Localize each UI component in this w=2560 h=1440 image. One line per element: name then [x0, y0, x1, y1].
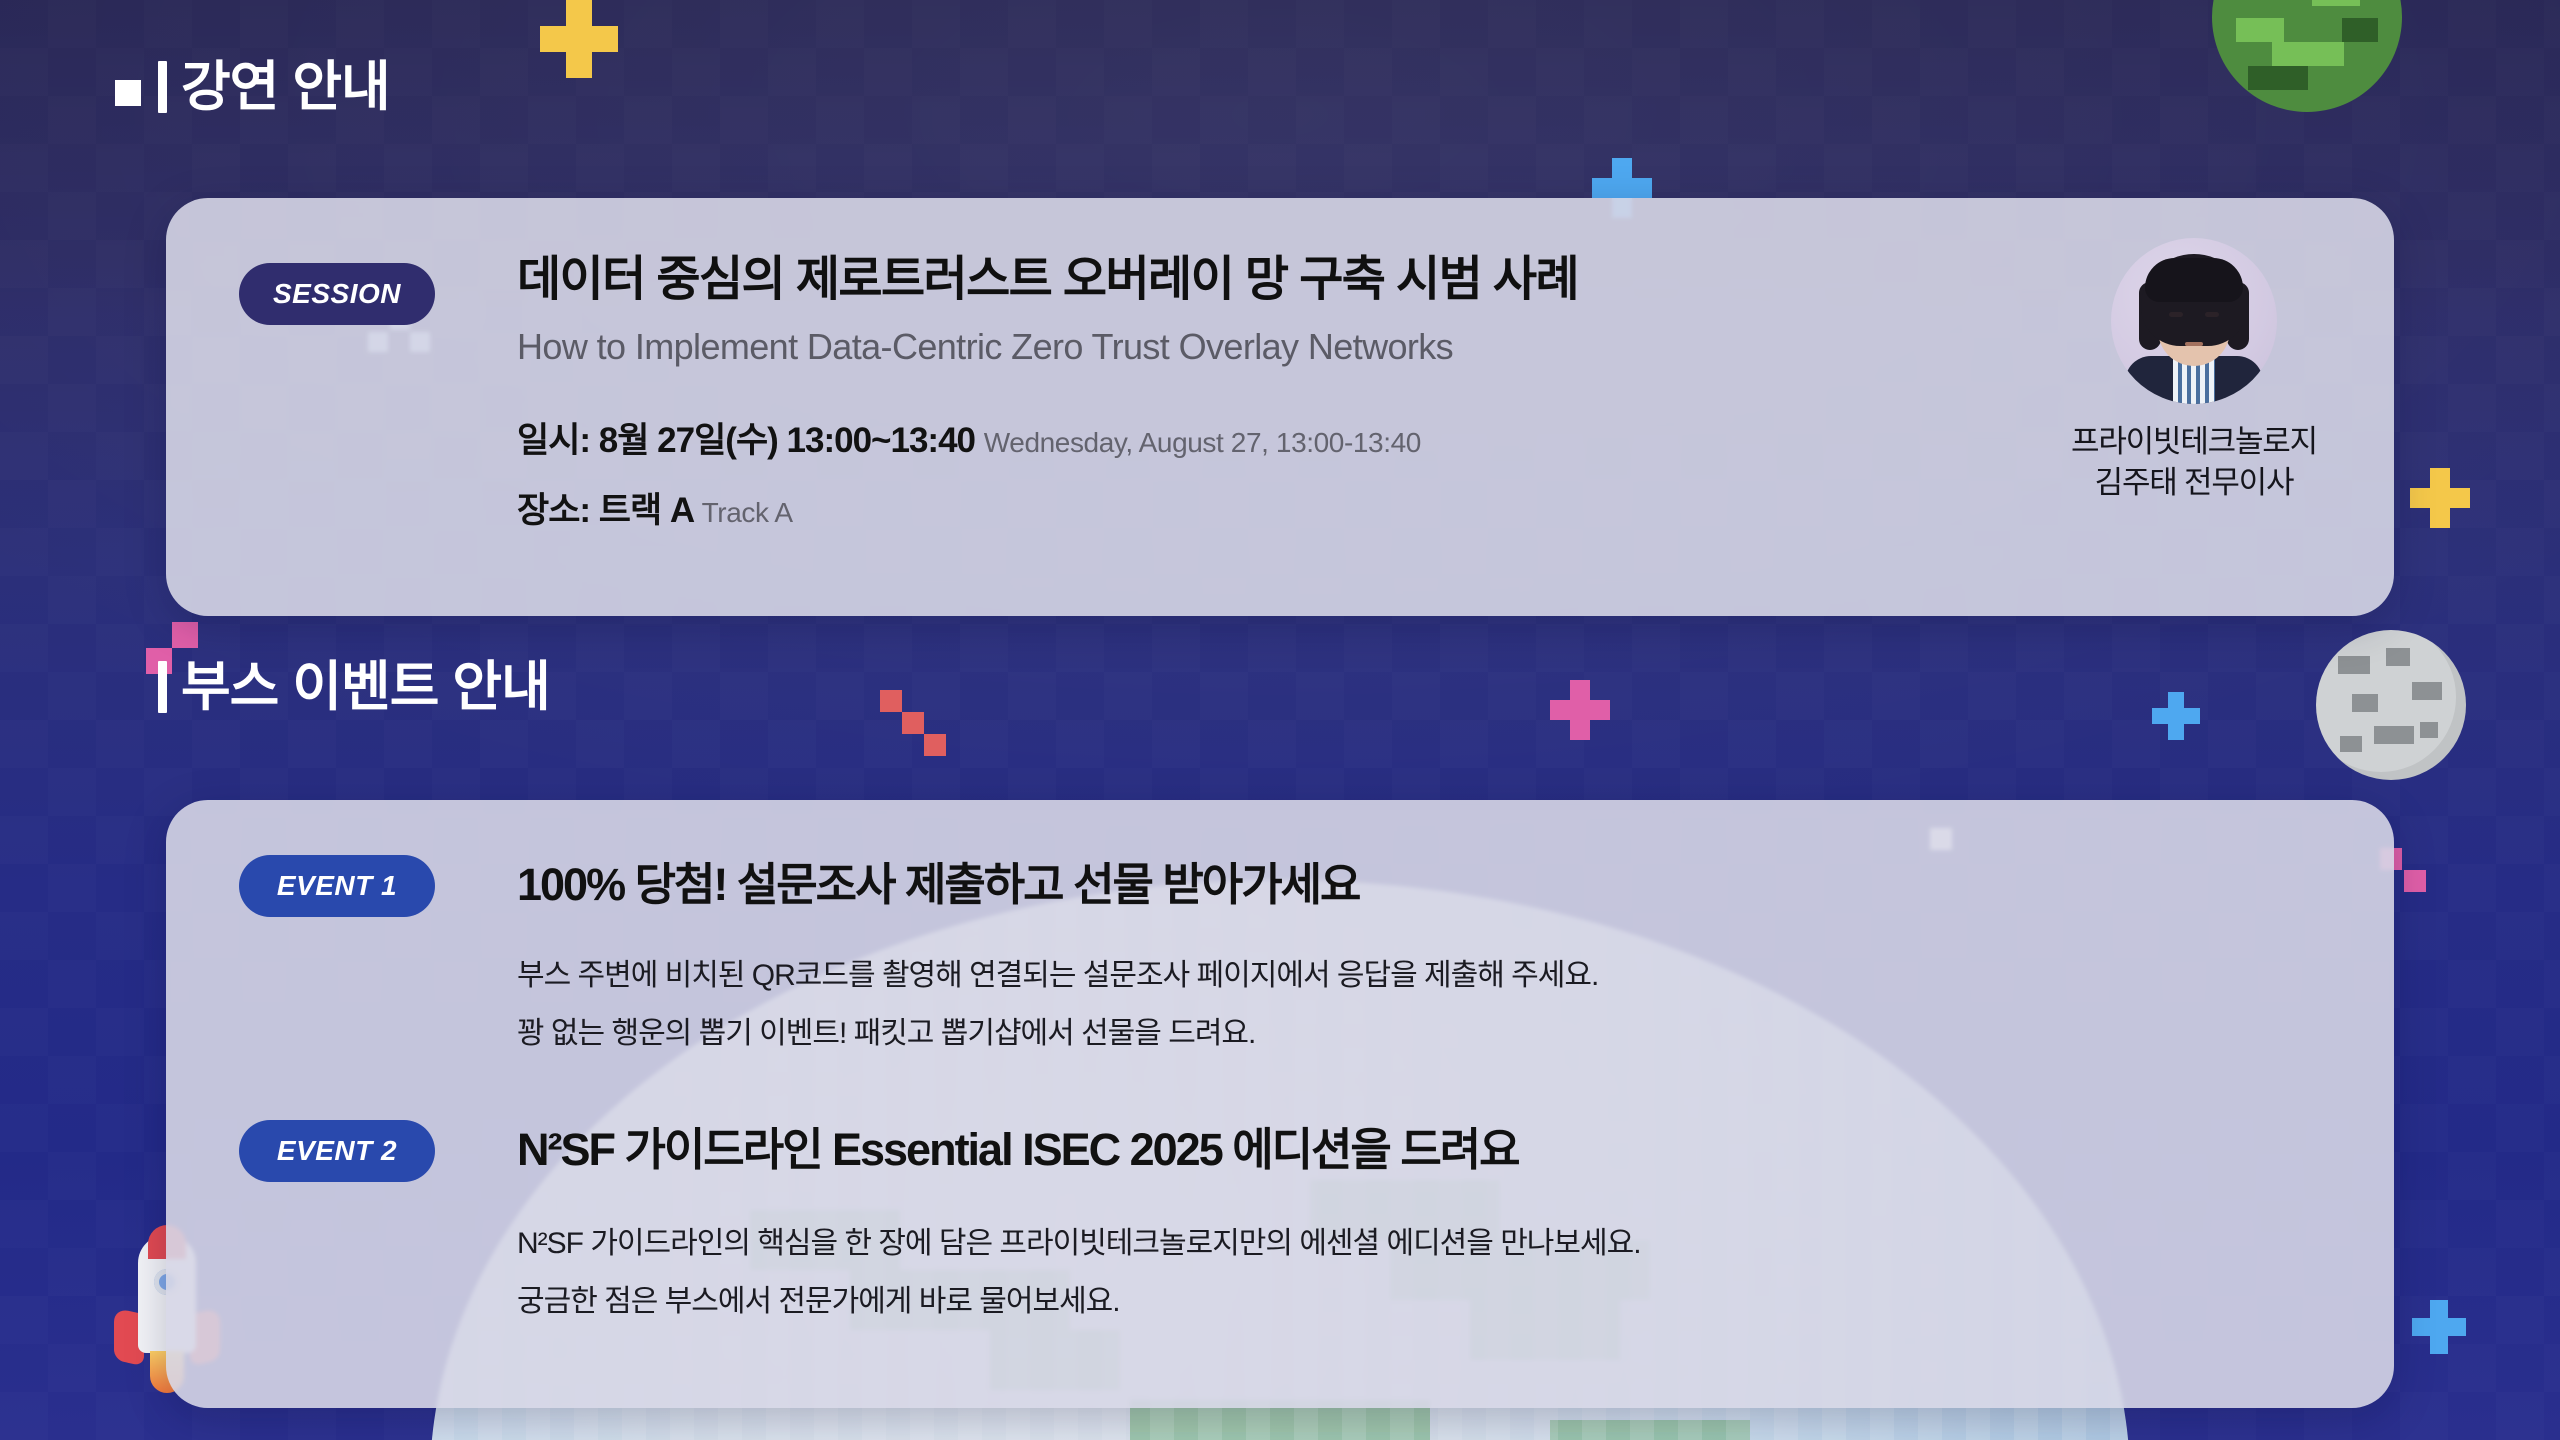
session-datetime-ko: 일시: 8월 27일(수) 13:00~13:40 [517, 421, 975, 460]
section-title-lecture: 강연 안내 [181, 60, 390, 114]
speaker-organization: 프라이빗테크놀로지 [2024, 422, 2364, 463]
speaker-info: 프라이빗테크놀로지 김주태 전무이사 [2024, 422, 2364, 504]
session-place: 장소: 트랙 A Track A [517, 482, 793, 533]
session-datetime-en: Wednesday, August 27, 13:00-13:40 [984, 427, 1421, 458]
event-2-badge: EVENT 2 [239, 1120, 435, 1182]
section-title-booth: 부스 이벤트 안내 [181, 660, 550, 714]
event-2-line-2: 궁금한 점은 부스에서 전문가에게 바로 물어보세요. [517, 1276, 1120, 1320]
poster-content: 강연 안내 SESSION 데이터 중심의 제로트러스트 오버레이 망 구축 시… [0, 0, 2560, 1440]
section-bar-icon [158, 661, 167, 713]
session-card: SESSION 데이터 중심의 제로트러스트 오버레이 망 구축 시범 사례 H… [166, 198, 2394, 616]
event-2-title: N²SF 가이드라인 Essential ISEC 2025 에디션을 드려요 [517, 1113, 1519, 1178]
event-1-line-2: 꽝 없는 행운의 뽑기 이벤트! 패킷고 뽑기샵에서 선물을 드려요. [517, 1008, 1255, 1052]
event-1-line-1: 부스 주변에 비치된 QR코드를 촬영해 연결되는 설문조사 페이지에서 응답을… [517, 950, 1598, 994]
speaker-portrait [2111, 238, 2277, 404]
session-title-ko: 데이터 중심의 제로트러스트 오버레이 망 구축 시범 사례 [517, 253, 1578, 307]
section-header-lecture: 강연 안내 [158, 60, 390, 114]
session-datetime: 일시: 8월 27일(수) 13:00~13:40 Wednesday, Aug… [517, 412, 1421, 463]
session-title-en: How to Implement Data-Centric Zero Trust… [517, 326, 1453, 368]
section-header-booth: 부스 이벤트 안내 [158, 660, 550, 714]
speaker-name-title: 김주태 전무이사 [2024, 463, 2364, 504]
section-bar-icon [158, 61, 167, 113]
event-1-title: 100% 당첨! 설문조사 제출하고 선물 받아가세요 [517, 848, 1359, 913]
speaker-block: 프라이빗테크놀로지 김주태 전무이사 [2024, 238, 2364, 504]
session-badge: SESSION [239, 263, 435, 325]
session-place-ko: 장소: 트랙 A [517, 491, 693, 530]
event-2-line-1: N²SF 가이드라인의 핵심을 한 장에 담은 프라이빗테크놀로지만의 에센셜 … [517, 1218, 1641, 1262]
session-place-en: Track A [702, 497, 793, 528]
event-1-badge: EVENT 1 [239, 855, 435, 917]
booth-event-card: EVENT 1 100% 당첨! 설문조사 제출하고 선물 받아가세요 부스 주… [166, 800, 2394, 1408]
